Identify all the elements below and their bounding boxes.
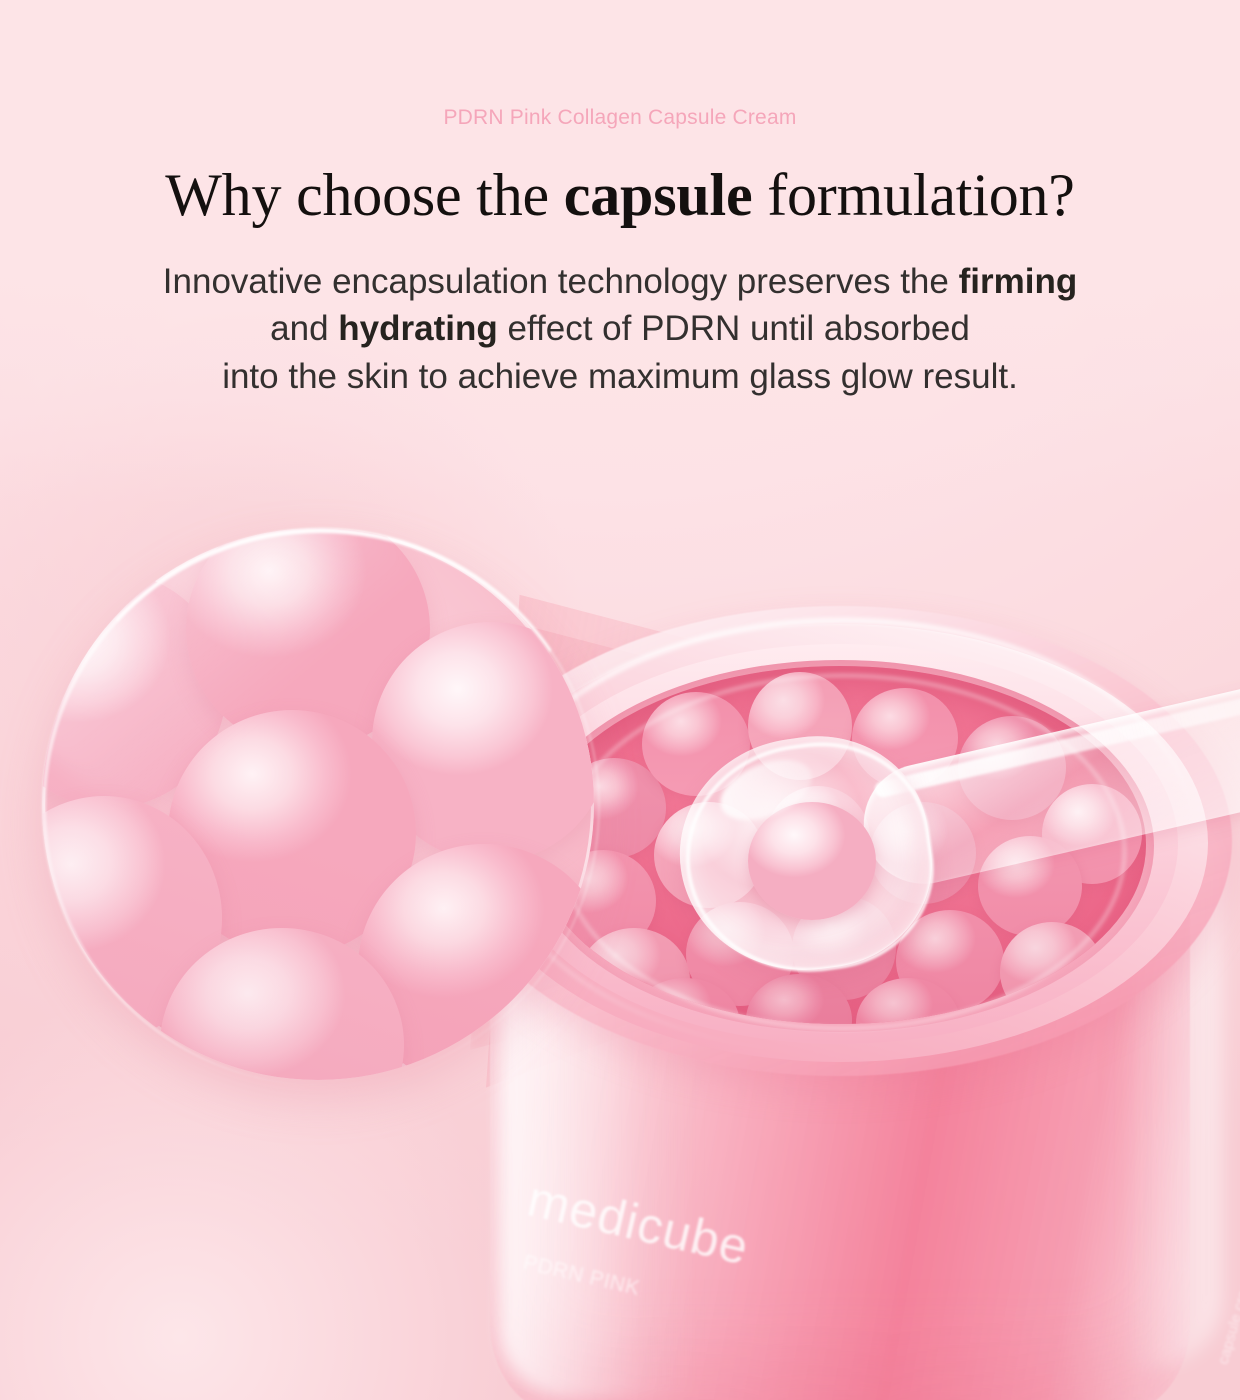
headline-part-2: formulation? bbox=[752, 162, 1074, 228]
magnifier-content bbox=[42, 528, 594, 1080]
body-line-2-text-a: and bbox=[270, 309, 338, 348]
body-line-1-text: Innovative encapsulation technology pres… bbox=[163, 262, 959, 301]
body-line-2-bold: hydrating bbox=[338, 309, 497, 348]
text-block: PDRN Pink Collagen Capsule Cream Why cho… bbox=[0, 0, 1240, 400]
capsule-in-spatula bbox=[748, 802, 876, 920]
product-photo: medicube PDRN PINK capsule cream bbox=[0, 470, 1240, 1400]
product-eyebrow: PDRN Pink Collagen Capsule Cream bbox=[0, 107, 1240, 128]
headline-part-1: Why choose the bbox=[165, 162, 564, 228]
body-line-1-bold: firming bbox=[959, 262, 1078, 301]
body-line-3: into the skin to achieve maximum glass g… bbox=[0, 353, 1240, 401]
promo-stage: medicube PDRN PINK capsule cream PDRN Pi… bbox=[0, 0, 1240, 1400]
magnifier-circle bbox=[42, 528, 594, 1080]
body-line-2-text-b: effect of PDRN until absorbed bbox=[498, 309, 970, 348]
body-line-2: and hydrating effect of PDRN until absor… bbox=[0, 305, 1240, 353]
body-line-1: Innovative encapsulation technology pres… bbox=[0, 258, 1240, 306]
body-copy: Innovative encapsulation technology pres… bbox=[0, 258, 1240, 401]
headline-emphasis: capsule bbox=[564, 162, 753, 228]
page-title: Why choose the capsule formulation? bbox=[0, 164, 1240, 228]
